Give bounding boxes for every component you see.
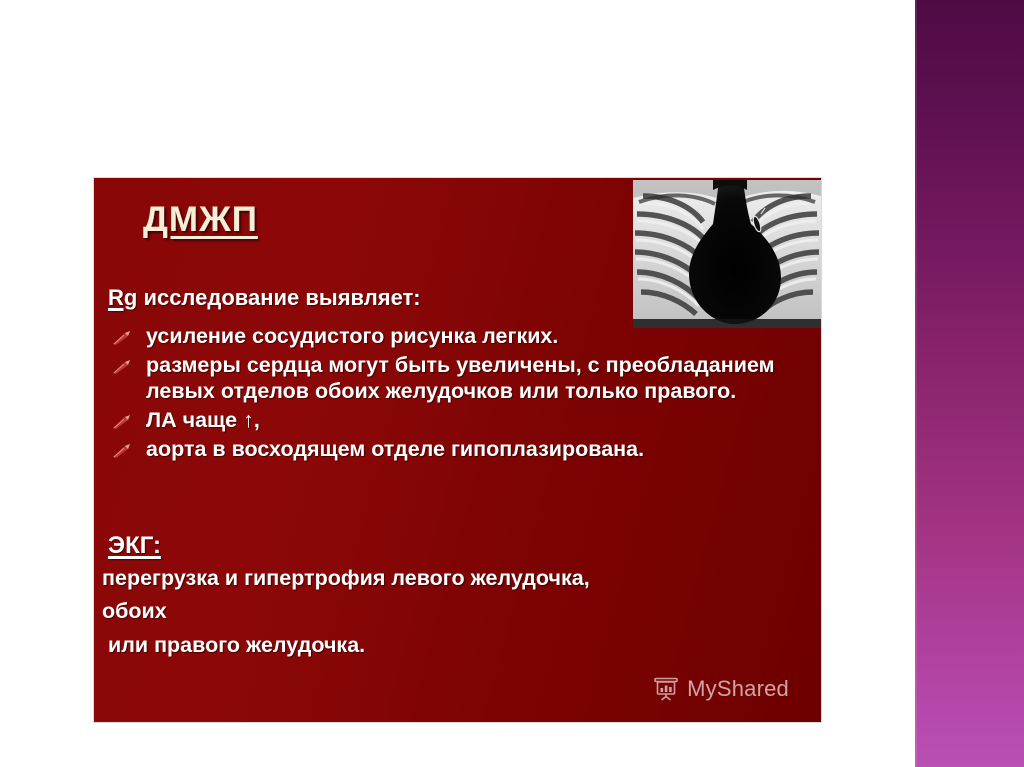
list-item-label: аорта в восходящем отделе гипоплазирован… (146, 437, 644, 461)
myshared-label: MyShared (687, 676, 789, 702)
list-item: ЛА чаще ↑, (108, 408, 808, 433)
list-item: усиление сосудистого рисунка легких. (108, 324, 808, 349)
list-item: размеры сердца могут быть увеличены, с п… (108, 353, 808, 404)
decorative-side-band (915, 0, 1024, 767)
presentation-chart-icon (653, 677, 679, 701)
pen-bullet-icon (112, 443, 136, 459)
myshared-watermark: MyShared (653, 676, 789, 702)
lead-rest-text: исследование выявляет: (137, 285, 420, 310)
slide-canvas: ДМЖП Rg исследование выявляет: усиление … (0, 0, 1024, 767)
pen-bullet-icon (112, 330, 136, 346)
list-item: аорта в восходящем отделе гипоплазирован… (108, 437, 808, 462)
content-panel: ДМЖП Rg исследование выявляет: усиление … (94, 178, 821, 722)
list-item-label: размеры сердца могут быть увеличены, с п… (146, 353, 775, 402)
lead-underlined-token: Rg (108, 285, 137, 310)
findings-list: усиление сосудистого рисунка легких. раз… (108, 324, 808, 467)
lead-line: Rg исследование выявляет: (108, 286, 421, 311)
ecg-heading: ЭКГ: (108, 533, 161, 560)
pen-bullet-icon (112, 359, 136, 375)
page-title: ДМЖП (143, 200, 258, 240)
chest-xray-image (633, 180, 821, 328)
list-item-label: ЛА чаще ↑, (146, 408, 260, 432)
ecg-heading-text: ЭКГ: (108, 532, 161, 559)
pen-bullet-icon (112, 414, 136, 430)
ecg-line-3: или правого желудочка. (108, 633, 365, 657)
ecg-line-2: обоих (102, 599, 167, 623)
ecg-line-1: перегрузка и гипертрофия левого желудочк… (102, 566, 590, 590)
list-item-label: усиление сосудистого рисунка легких. (146, 324, 558, 348)
